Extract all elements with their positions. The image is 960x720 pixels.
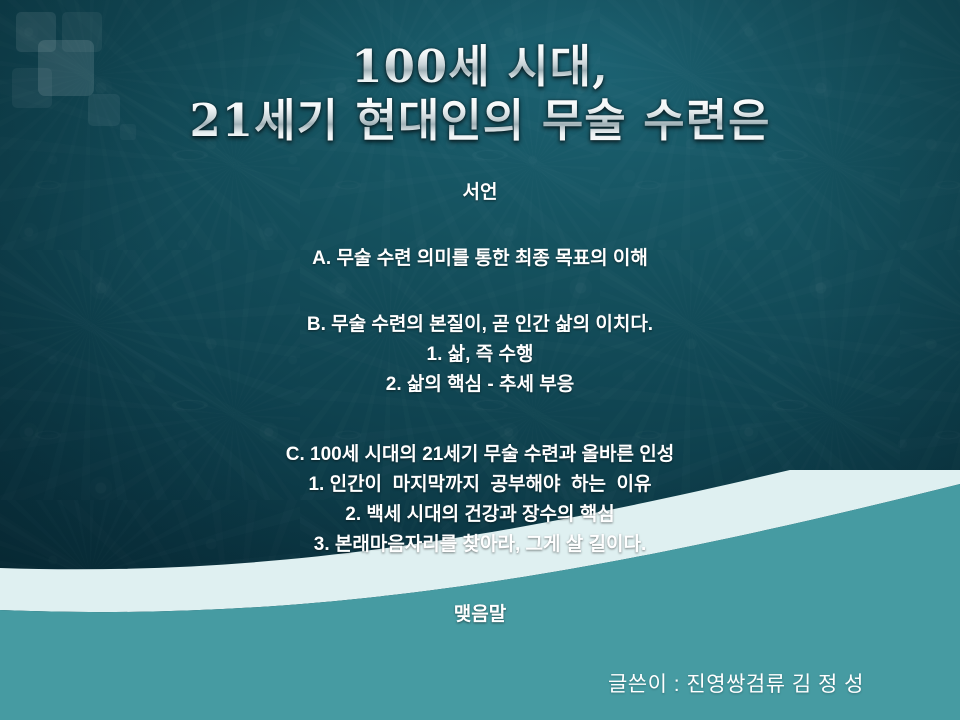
- presentation-slide: 100세 시대, 21세기 현대인의 무술 수련은 서언 A. 무술 수련 의미…: [0, 0, 960, 720]
- spacer: [0, 400, 960, 440]
- spacer: [0, 560, 960, 600]
- decorative-square-6: [120, 124, 136, 140]
- body-outro: 맺음말: [0, 600, 960, 630]
- body-b-item-1: 1. 삶, 즉 수행: [0, 340, 960, 370]
- body-b-item-2: 2. 삶의 핵심 - 추세 부응: [0, 370, 960, 400]
- body-intro: 서언: [0, 178, 960, 208]
- decorative-square-5: [88, 94, 120, 126]
- body-c-item-1: 1. 인간이 마지막까지 공부해야 하는 이유: [0, 470, 960, 500]
- spacer: [0, 274, 960, 310]
- body-section-b: B. 무술 수련의 본질이, 곧 인간 삶의 이치다.: [0, 310, 960, 340]
- body-section-c: C. 100세 시대의 21세기 무술 수련과 올바른 인성: [0, 440, 960, 470]
- decorative-square-large: [38, 40, 94, 96]
- body-c-item-3: 3. 본래마음자리를 찾아라, 그게 살 길이다.: [0, 530, 960, 560]
- spacer: [0, 208, 960, 244]
- slide-body: 서언 A. 무술 수련 의미를 통한 최종 목표의 이해 B. 무술 수련의 본…: [0, 178, 960, 630]
- author-credit: 글쓴이 : 진영쌍검류 김 정 성: [0, 668, 864, 698]
- body-section-a: A. 무술 수련 의미를 통한 최종 목표의 이해: [0, 244, 960, 274]
- body-c-item-2: 2. 백세 시대의 건강과 장수의 핵심: [0, 500, 960, 530]
